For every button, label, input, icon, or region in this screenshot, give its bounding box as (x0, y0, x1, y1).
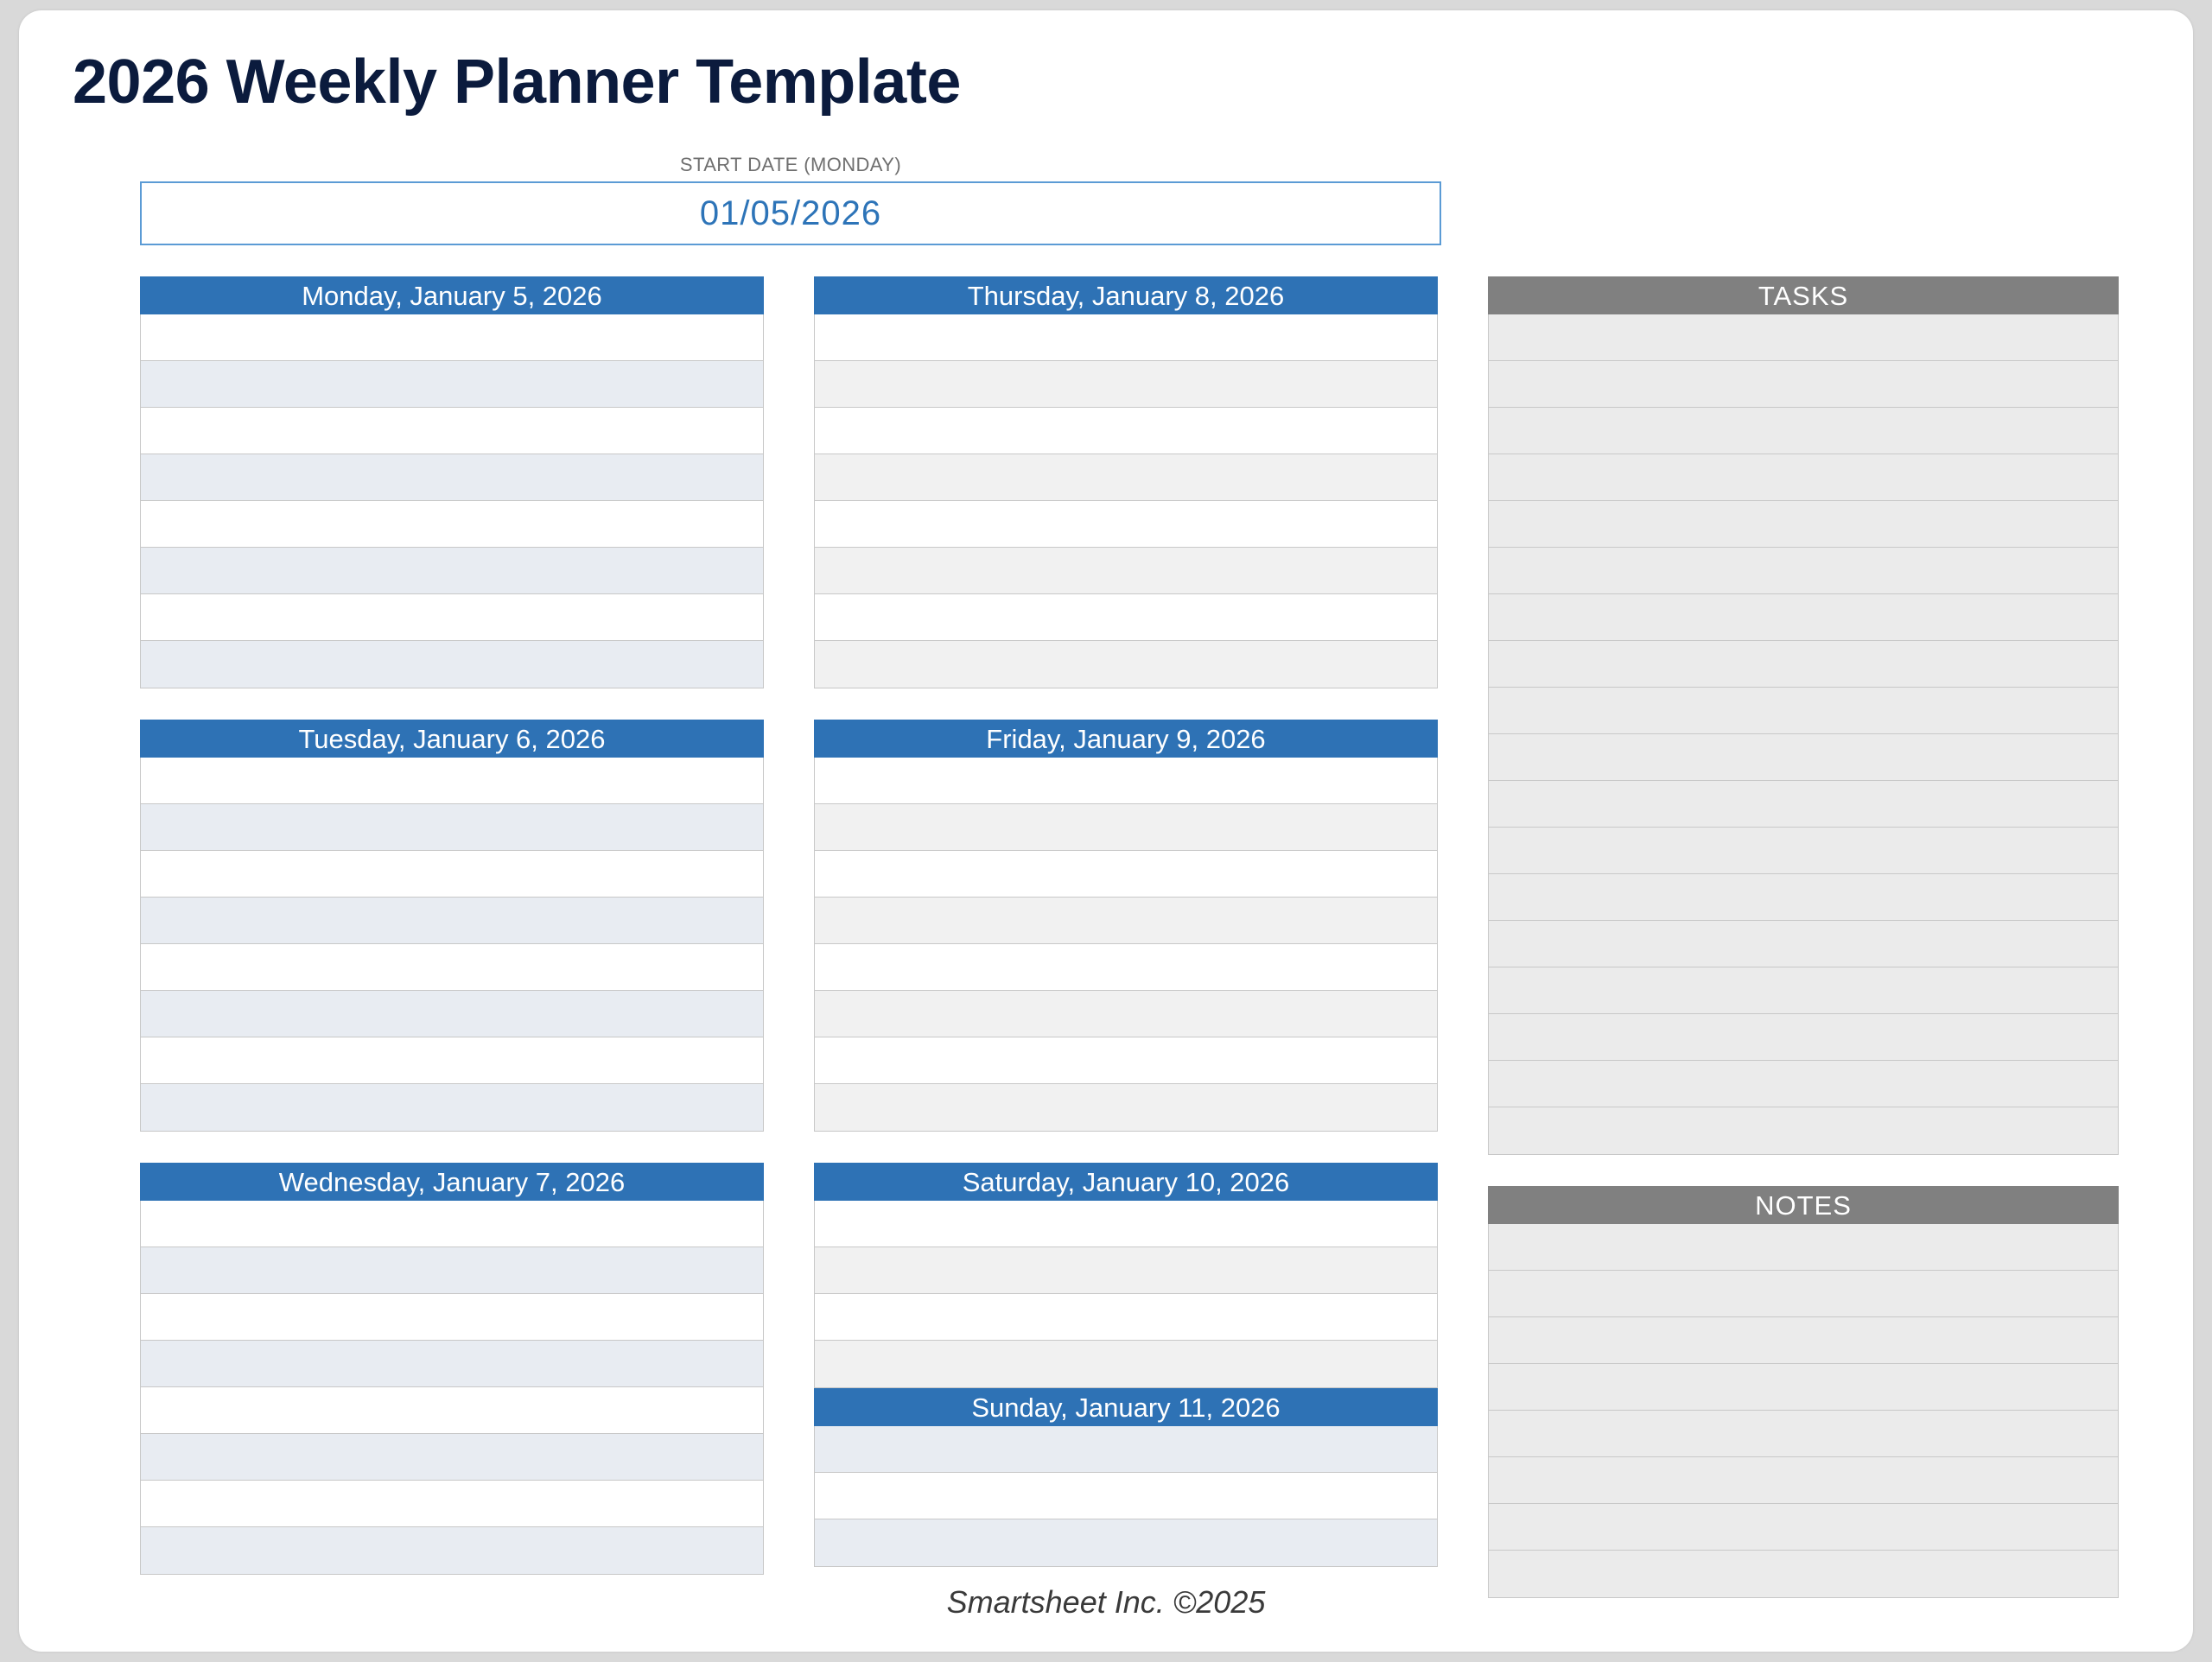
entry-row[interactable] (1489, 594, 2118, 641)
start-date-label: START DATE (MONDAY) (140, 154, 1441, 176)
entry-row[interactable] (141, 851, 763, 898)
entry-row[interactable] (815, 1473, 1437, 1519)
day-block-thursday: Thursday, January 8, 2026 (814, 276, 1438, 688)
entry-row[interactable] (141, 898, 763, 944)
entry-row[interactable] (1489, 1271, 2118, 1317)
entry-row[interactable] (1489, 454, 2118, 501)
entry-row[interactable] (1489, 1061, 2118, 1107)
entry-row[interactable] (141, 758, 763, 804)
entry-row[interactable] (141, 501, 763, 548)
entry-row[interactable] (1489, 501, 2118, 548)
entry-row[interactable] (1489, 1504, 2118, 1551)
day-rows-monday (140, 314, 764, 688)
entry-row[interactable] (815, 641, 1437, 688)
spacer (814, 1132, 1438, 1163)
entry-row[interactable] (141, 1294, 763, 1341)
entry-row[interactable] (141, 361, 763, 408)
day-header-sunday: Sunday, January 11, 2026 (814, 1388, 1438, 1426)
entry-row[interactable] (815, 454, 1437, 501)
day-rows-tuesday (140, 758, 764, 1132)
panel-notes: NOTES (1488, 1186, 2119, 1598)
column-right: TASKS NOTES (1488, 276, 2119, 1598)
entry-row[interactable] (815, 1294, 1437, 1341)
entry-row[interactable] (815, 1519, 1437, 1566)
entry-row[interactable] (141, 548, 763, 594)
spacer (140, 1132, 764, 1163)
planner-page-card: 2026 Weekly Planner Template START DATE … (19, 10, 2193, 1652)
panel-rows-notes (1488, 1224, 2119, 1598)
entry-row[interactable] (1489, 874, 2118, 921)
entry-row[interactable] (815, 548, 1437, 594)
entry-row[interactable] (141, 1434, 763, 1481)
entry-row[interactable] (815, 851, 1437, 898)
entry-row[interactable] (1489, 1317, 2118, 1364)
entry-row[interactable] (815, 991, 1437, 1037)
entry-row[interactable] (1489, 688, 2118, 734)
spacer (140, 688, 764, 720)
panel-rows-tasks (1488, 314, 2119, 1155)
spacer (814, 688, 1438, 720)
entry-row[interactable] (815, 361, 1437, 408)
entry-row[interactable] (141, 804, 763, 851)
day-block-wednesday: Wednesday, January 7, 2026 (140, 1163, 764, 1575)
day-header-saturday: Saturday, January 10, 2026 (814, 1163, 1438, 1201)
entry-row[interactable] (815, 1426, 1437, 1473)
entry-row[interactable] (141, 1341, 763, 1387)
entry-row[interactable] (815, 804, 1437, 851)
entry-row[interactable] (1489, 361, 2118, 408)
start-date-value: 01/05/2026 (700, 194, 881, 233)
entry-row[interactable] (141, 454, 763, 501)
day-rows-saturday (814, 1201, 1438, 1388)
panel-header-tasks: TASKS (1488, 276, 2119, 314)
entry-row[interactable] (141, 991, 763, 1037)
day-block-monday: Monday, January 5, 2026 (140, 276, 764, 688)
entry-row[interactable] (1489, 314, 2118, 361)
entry-row[interactable] (815, 1247, 1437, 1294)
day-header-tuesday: Tuesday, January 6, 2026 (140, 720, 764, 758)
start-date-input[interactable]: 01/05/2026 (140, 181, 1441, 245)
day-header-thursday: Thursday, January 8, 2026 (814, 276, 1438, 314)
footer-copyright: Smartsheet Inc. ©2025 (19, 1584, 2193, 1621)
day-block-sunday: Sunday, January 11, 2026 (814, 1388, 1438, 1567)
entry-row[interactable] (815, 758, 1437, 804)
entry-row[interactable] (141, 641, 763, 688)
day-block-friday: Friday, January 9, 2026 (814, 720, 1438, 1132)
panel-header-notes: NOTES (1488, 1186, 2119, 1224)
entry-row[interactable] (141, 314, 763, 361)
day-header-monday: Monday, January 5, 2026 (140, 276, 764, 314)
entry-row[interactable] (1489, 1014, 2118, 1061)
entry-row[interactable] (1489, 828, 2118, 874)
panel-tasks: TASKS (1488, 276, 2119, 1155)
page-title: 2026 Weekly Planner Template (73, 47, 961, 117)
entry-row[interactable] (1489, 734, 2118, 781)
entry-row[interactable] (1489, 1457, 2118, 1504)
entry-row[interactable] (1489, 548, 2118, 594)
entry-row[interactable] (1489, 1107, 2118, 1154)
entry-row[interactable] (1489, 1364, 2118, 1411)
entry-row[interactable] (141, 1247, 763, 1294)
day-header-wednesday: Wednesday, January 7, 2026 (140, 1163, 764, 1201)
day-block-tuesday: Tuesday, January 6, 2026 (140, 720, 764, 1132)
entry-row[interactable] (141, 1084, 763, 1131)
entry-row[interactable] (141, 594, 763, 641)
entry-row[interactable] (1489, 781, 2118, 828)
entry-row[interactable] (815, 501, 1437, 548)
entry-row[interactable] (815, 594, 1437, 641)
entry-row[interactable] (1489, 967, 2118, 1014)
day-rows-friday (814, 758, 1438, 1132)
entry-row[interactable] (141, 944, 763, 991)
entry-row[interactable] (141, 1387, 763, 1434)
entry-row[interactable] (815, 898, 1437, 944)
entry-row[interactable] (815, 1341, 1437, 1387)
entry-row[interactable] (141, 408, 763, 454)
entry-row[interactable] (815, 314, 1437, 361)
entry-row[interactable] (141, 1527, 763, 1574)
entry-row[interactable] (1489, 408, 2118, 454)
entry-row[interactable] (815, 408, 1437, 454)
entry-row[interactable] (141, 1201, 763, 1247)
day-header-friday: Friday, January 9, 2026 (814, 720, 1438, 758)
entry-row[interactable] (815, 1201, 1437, 1247)
day-rows-thursday (814, 314, 1438, 688)
start-date-block: START DATE (MONDAY) 01/05/2026 (140, 154, 1441, 245)
entry-row[interactable] (1489, 1411, 2118, 1457)
entry-row[interactable] (141, 1481, 763, 1527)
spacer (1488, 1155, 2119, 1186)
day-rows-sunday (814, 1426, 1438, 1567)
day-rows-wednesday (140, 1201, 764, 1575)
column-middle: Thursday, January 8, 2026 Friday, Januar… (814, 276, 1438, 1567)
entry-row[interactable] (1489, 1224, 2118, 1271)
entry-row[interactable] (815, 1084, 1437, 1131)
day-block-saturday: Saturday, January 10, 2026 (814, 1163, 1438, 1388)
entry-row[interactable] (815, 1037, 1437, 1084)
entry-row[interactable] (1489, 641, 2118, 688)
entry-row[interactable] (141, 1037, 763, 1084)
entry-row[interactable] (1489, 921, 2118, 967)
column-left: Monday, January 5, 2026 Tuesday, January… (140, 276, 764, 1575)
entry-row[interactable] (815, 944, 1437, 991)
